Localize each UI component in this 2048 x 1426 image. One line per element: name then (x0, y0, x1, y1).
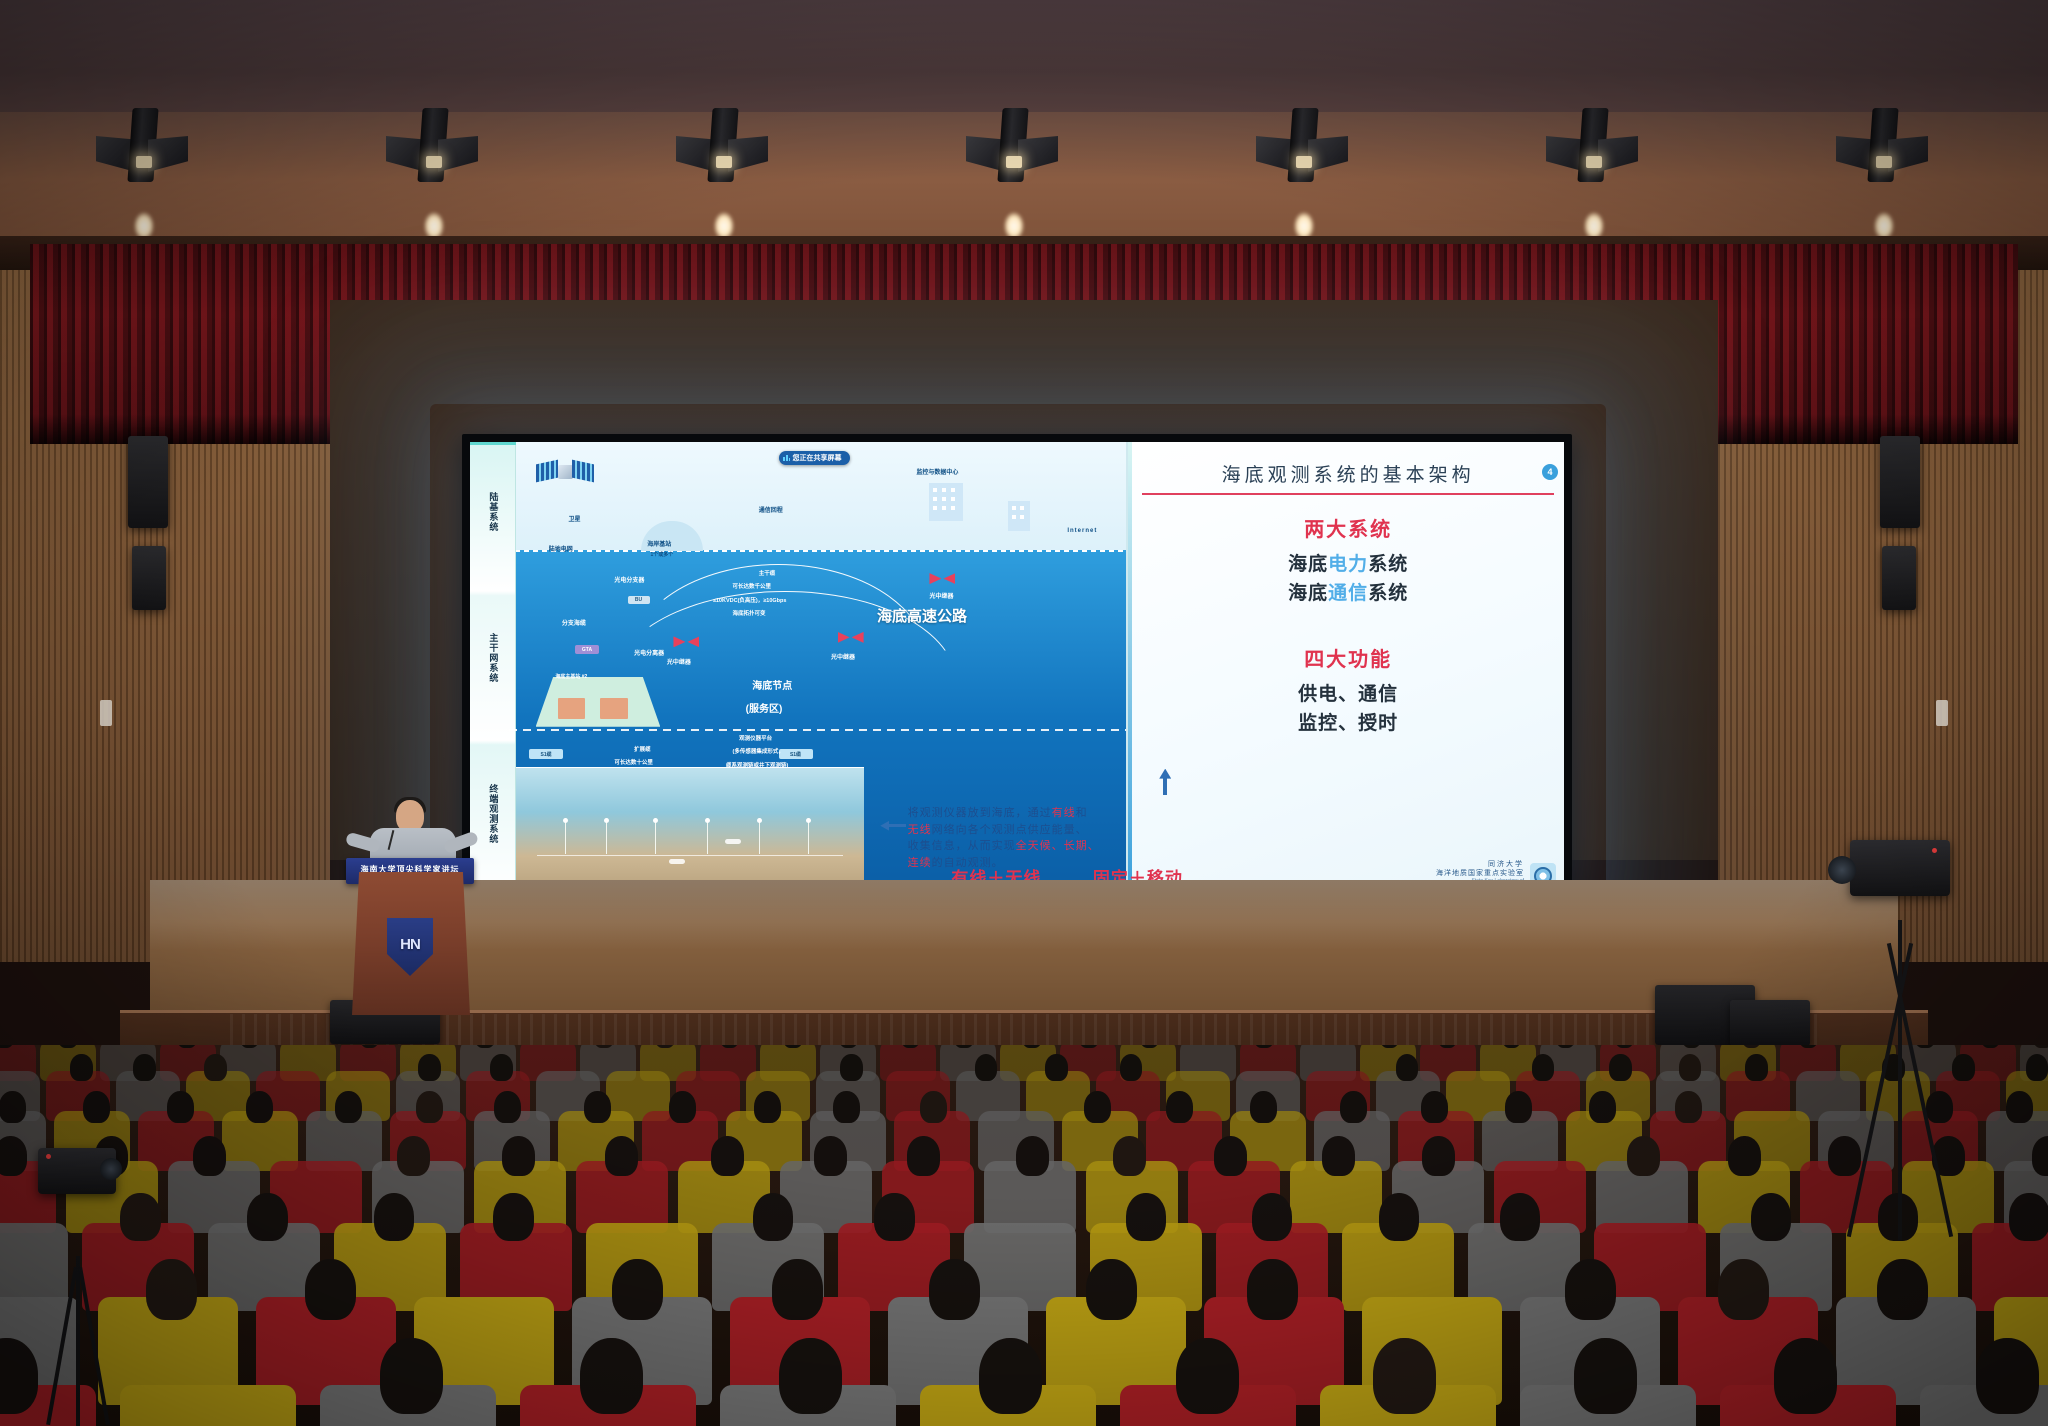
label-trunk-spec-4: 海底拓扑可变 (733, 609, 766, 617)
audience-member (490, 1054, 513, 1081)
annot-3a: 收集信息，从而实现 (908, 840, 1016, 852)
audience-member (305, 1259, 356, 1320)
annot-1a: 将观测仪器放到海底，通过 (908, 807, 1052, 819)
audience-member (1877, 1259, 1928, 1320)
audience-member (1505, 1091, 1532, 1123)
sys-power-pre: 海底 (1288, 554, 1328, 575)
audience-member (1214, 1136, 1247, 1176)
audience-member (2009, 1193, 2048, 1242)
camera-tripod-right (1820, 840, 1980, 1240)
audience-member (753, 1193, 794, 1242)
audience-member (1126, 1193, 1167, 1242)
label-instr-spec-1: 观测仪器平台 (739, 734, 772, 742)
slide-number-badge: 4 (1542, 464, 1558, 480)
audience-member (1627, 1136, 1660, 1176)
annotation-arrow-up (1159, 769, 1171, 795)
wall-sconce-right (1936, 700, 1948, 726)
audience-member (1589, 1091, 1616, 1123)
annot-line-3: 收集信息，从而实现全天候、长期、 (908, 838, 1280, 855)
audience-member (605, 1136, 638, 1176)
footer-university: 同济大学 (1436, 861, 1524, 869)
audience-member (1120, 1054, 1143, 1081)
lane-label-land: 陆基系统 (488, 492, 498, 532)
footer-lab: 海洋地质国家重点实验室 (1436, 870, 1524, 878)
heading-two-systems: 两大系统 (1142, 513, 1554, 542)
lane-label-backbone: 主干网系统 (488, 633, 498, 683)
lane-tag-top (470, 442, 516, 445)
audience-member (840, 1054, 863, 1081)
label-repeater-1: 光中继器 (929, 591, 953, 600)
annot-line-2: 无线网络向各个观测点供应能量、 (908, 822, 1280, 839)
ceiling-slab (0, 0, 2048, 120)
audience-member (247, 1193, 288, 1242)
sys-comm-post: 系统 (1368, 583, 1408, 604)
label-trunk-spec-1: 主干缆 (759, 569, 776, 577)
label-branch-cable-1: 分支海缆 (562, 618, 586, 627)
audience-member (1250, 1091, 1277, 1123)
data-center-building-2 (1008, 501, 1030, 531)
label-shore-station-sub: 1个或多个 (651, 551, 674, 558)
audience-member (1340, 1091, 1367, 1123)
podium: 海南大学顶尖科学家讲坛 Hainan University Distinguis… (340, 800, 480, 1015)
label-subsea-highway: 海底高速公路 (877, 605, 967, 626)
ceiling-spotlight (698, 108, 752, 188)
audience-member (920, 1091, 947, 1123)
audience-member (204, 1054, 227, 1081)
annot-2a: 无线 (908, 824, 932, 836)
audience-member (1176, 1338, 1239, 1414)
label-repeater-3: 光中继器 (667, 657, 691, 666)
panel-spacer (1142, 609, 1554, 633)
chip-bu-1: BU (628, 596, 650, 604)
stage-monitor-right-2 (1730, 1000, 1810, 1046)
label-trunk-spec-3: ≤10KVDC(负高压)，≥10Gbps (713, 596, 787, 604)
audience-member (1751, 1193, 1792, 1242)
audience-member (833, 1091, 860, 1123)
audience-member (2026, 1054, 2048, 1081)
title-underline (1142, 493, 1554, 495)
audience-member (418, 1054, 441, 1081)
camera-lens-right (1828, 856, 1856, 884)
wall-speaker-left-2 (132, 546, 166, 610)
repeater-icon-1 (929, 573, 955, 584)
tripod-leg (1847, 943, 1913, 1237)
screen-share-indicator: 您正在共享屏幕 (779, 451, 850, 465)
audience-member (397, 1136, 430, 1176)
audience-member (1718, 1259, 1769, 1320)
tripod-leg (46, 1267, 78, 1425)
ceiling-spotlight (118, 108, 172, 188)
audience-member (979, 1338, 1042, 1414)
annot-3b: 全天候、长期、 (1016, 840, 1100, 852)
audience-member (580, 1338, 643, 1414)
label-node-service-1: 海底节点 (752, 677, 792, 692)
label-monitor-center: 监控与数据中心 (916, 467, 958, 476)
tripod-leg (1898, 920, 1902, 1240)
label-trunk-spec-2: 可长达数千公里 (733, 582, 772, 590)
annot-1b: 有线 (1052, 807, 1076, 819)
audience-member (1675, 1091, 1702, 1123)
label-repeater-2: 光中继器 (831, 652, 855, 661)
audience-member (146, 1259, 197, 1320)
label-satellite: 卫星 (568, 514, 580, 523)
audience-member (1396, 1054, 1419, 1081)
audience-member (494, 1091, 521, 1123)
heading-four-functions: 四大功能 (1142, 643, 1554, 672)
audience-member (754, 1091, 781, 1123)
audience-member (1728, 1136, 1761, 1176)
tripod-leg (1887, 943, 1953, 1237)
lane-label-terminal: 终端观测系统 (488, 784, 498, 844)
auditorium-scene: 陆基系统 主干网系统 终端观测系统 您正在共享屏幕 卫星 陆地电网 海岸基站 1… (0, 0, 2048, 1426)
audience-member (874, 1193, 915, 1242)
wall-sconce-left (100, 700, 112, 726)
audience-member (1045, 1054, 1068, 1081)
label-separator-1: 光电分离器 (634, 648, 664, 657)
wall-speaker-right-2 (1882, 546, 1916, 610)
function-line-2: 监控、授时 (1142, 709, 1554, 738)
audience-member (0, 1091, 26, 1123)
label-shore-station: 海岸基站 (647, 539, 671, 548)
audience-member (669, 1091, 696, 1123)
sys-power-hl: 电力 (1328, 554, 1368, 575)
audience-member (1086, 1259, 1137, 1320)
audience-member (1166, 1091, 1193, 1123)
label-instr-spec-2: (多传感器集成形式， (733, 747, 784, 755)
audience-member (1532, 1054, 1555, 1081)
audience-member (1745, 1054, 1768, 1081)
audience-member (193, 1136, 226, 1176)
label-branching-unit-1: 光电分支器 (614, 575, 644, 584)
audience-member (1774, 1338, 1837, 1414)
function-line-1: 供电、通信 (1142, 680, 1554, 709)
camera-record-led-left (46, 1154, 51, 1159)
audience-member (2032, 1136, 2048, 1176)
audience-member (1565, 1259, 1616, 1320)
audience-member (374, 1193, 415, 1242)
audience-member (1976, 1338, 2039, 1414)
audience-member (814, 1136, 847, 1176)
audience-member (1574, 1338, 1637, 1414)
chip-gta-1: GTA (575, 645, 599, 654)
audience-member (1247, 1259, 1298, 1320)
audience-member (1113, 1136, 1146, 1176)
audience-member (167, 1091, 194, 1123)
audience-member (70, 1054, 93, 1081)
label-ext-spec-1: 扩展缆 (634, 745, 651, 753)
annot-4a: 连续 (908, 857, 932, 869)
audience-member (1252, 1193, 1293, 1242)
annot-2b: 网络向各个观测点供应能量、 (932, 824, 1088, 836)
ceiling-spotlight (1858, 108, 1912, 188)
audience-member (1322, 1136, 1355, 1176)
label-station-2: 海底主基站 #2 (555, 673, 587, 680)
audience-member (83, 1091, 110, 1123)
audience-member (929, 1259, 980, 1320)
audience-member (779, 1338, 842, 1414)
label-internet: Internet (1067, 528, 1097, 534)
label-comm-backhaul: 通信回程 (759, 505, 783, 514)
audience-member (493, 1193, 534, 1242)
seabed-station-2 (536, 677, 661, 727)
label-node-service-2: (服务区) (746, 700, 783, 715)
chip-s1-node-1: S1缆 (529, 749, 563, 759)
camera-tripod-left (20, 1148, 140, 1426)
audience-member (133, 1054, 156, 1081)
camera-lens-left (100, 1158, 122, 1180)
led-screen: 陆基系统 主干网系统 终端观测系统 您正在共享屏幕 卫星 陆地电网 海岸基站 1… (462, 434, 1572, 902)
ceiling-spotlight (408, 108, 462, 188)
audience-member (975, 1054, 998, 1081)
sys-comm-hl: 通信 (1328, 583, 1368, 604)
repeater-icon-3 (673, 636, 699, 647)
audience-member (380, 1338, 443, 1414)
satellite-icon (536, 456, 594, 490)
repeater-icon-2 (838, 632, 864, 643)
sys-power-post: 系统 (1368, 554, 1408, 575)
audience-member (1084, 1091, 1111, 1123)
audience-member (1016, 1136, 1049, 1176)
sys-comm-pre: 海底 (1288, 583, 1328, 604)
audience-member (711, 1136, 744, 1176)
crest-initials: HN (400, 936, 420, 953)
system-line-power: 海底电力系统 (1142, 550, 1554, 579)
audience-member (1422, 1136, 1455, 1176)
audience-member (246, 1091, 273, 1123)
audience-member (416, 1091, 443, 1123)
tripod-leg (78, 1267, 110, 1425)
slide-annotation-text: 将观测仪器放到海底，通过有线和 无线网络向各个观测点供应能量、 收集信息，从而实… (908, 805, 1280, 871)
seafloor-photo-inset (516, 767, 864, 894)
wall-speaker-left-1 (128, 436, 168, 528)
camera-record-led-right (1932, 848, 1937, 853)
audience-member (335, 1091, 362, 1123)
audience-member (1379, 1193, 1420, 1242)
system-line-comm: 海底通信系统 (1142, 579, 1554, 608)
tripod-leg (76, 1256, 80, 1426)
audience-member (1373, 1338, 1436, 1414)
wall-speaker-right-1 (1880, 436, 1920, 528)
ceiling-spotlight (1568, 108, 1622, 188)
slide-title: 海底观测系统的基本架构 (1142, 460, 1554, 493)
audience-member (907, 1136, 940, 1176)
label-land-grid: 陆地电网 (549, 544, 573, 553)
auditorium-seat (120, 1385, 296, 1426)
annotation-arrow-left (880, 821, 906, 831)
data-center-building (929, 483, 963, 521)
audience-member (502, 1136, 535, 1176)
annot-line-1: 将观测仪器放到海底，通过有线和 (908, 805, 1280, 822)
audience-member (1679, 1054, 1702, 1081)
audience-member (772, 1259, 823, 1320)
audience-member (2006, 1091, 2033, 1123)
audience-member (1500, 1193, 1541, 1242)
seabed-dash-divider (509, 729, 1126, 731)
label-ext-spec-2: 可长达数十公里 (614, 758, 653, 766)
presentation-slide: 陆基系统 主干网系统 终端观测系统 您正在共享屏幕 卫星 陆地电网 海岸基站 1… (470, 442, 1564, 894)
annot-1c: 和 (1076, 807, 1088, 819)
audience-member (1609, 1054, 1632, 1081)
ceiling-spotlight (988, 108, 1042, 188)
audience-member (584, 1091, 611, 1123)
audience-member (1421, 1091, 1448, 1123)
audience-member (612, 1259, 663, 1320)
audience-area (0, 1045, 2048, 1426)
ceiling-spotlight (1278, 108, 1332, 188)
